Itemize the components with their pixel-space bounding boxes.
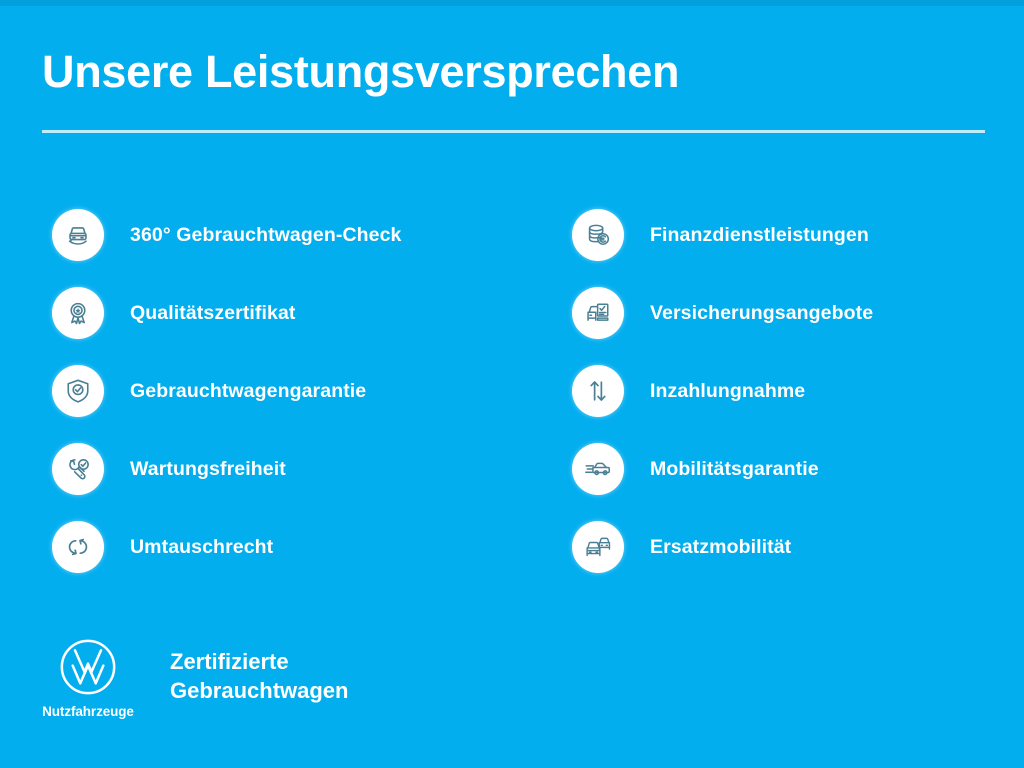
brand-lockup: Nutzfahrzeuge Zertifizierte Gebrauchtwag… (36, 636, 348, 719)
brand-sub-label: Nutzfahrzeuge (42, 704, 134, 719)
promise-item: Finanzdienstleistungen (572, 196, 1024, 274)
brand-claim-line2: Gebrauchtwagen (170, 677, 348, 706)
brand-claim-line1: Zertifizierte (170, 648, 348, 677)
promise-item: Ersatzmobilität (572, 508, 1024, 586)
promise-item: Versicherungsangebote (572, 274, 1024, 352)
up-down-arrows-icon (572, 365, 624, 417)
top-edge-band (0, 0, 1024, 6)
promise-item: Inzahlungnahme (572, 352, 1024, 430)
car-speed-icon (572, 443, 624, 495)
promise-label: Finanzdienstleistungen (650, 224, 869, 247)
volkswagen-logo-icon (57, 636, 119, 698)
promise-label: Versicherungsangebote (650, 302, 873, 325)
promise-label: Mobilitätsgarantie (650, 458, 819, 481)
promise-label: Ersatzmobilität (650, 536, 791, 559)
brand-mark: Nutzfahrzeuge (36, 636, 140, 719)
promise-item: Mobilitätsgarantie (572, 430, 1024, 508)
car-document-check-icon (572, 287, 624, 339)
promises-grid: 360° Gebrauchtwagen-Check Qualitätszerti… (0, 196, 1024, 586)
slide-root: Unsere Leistungsversprechen 360° Gebrauc… (0, 0, 1024, 768)
promise-label: Inzahlungnahme (650, 380, 805, 403)
page-title: Unsere Leistungsversprechen (42, 48, 982, 95)
brand-claim: Zertifizierte Gebrauchtwagen (170, 648, 348, 705)
title-divider (42, 130, 985, 133)
coins-euro-icon (572, 209, 624, 261)
two-cars-icon (572, 521, 624, 573)
promises-column-right: Finanzdienstleistungen Versicheru (0, 196, 1024, 586)
